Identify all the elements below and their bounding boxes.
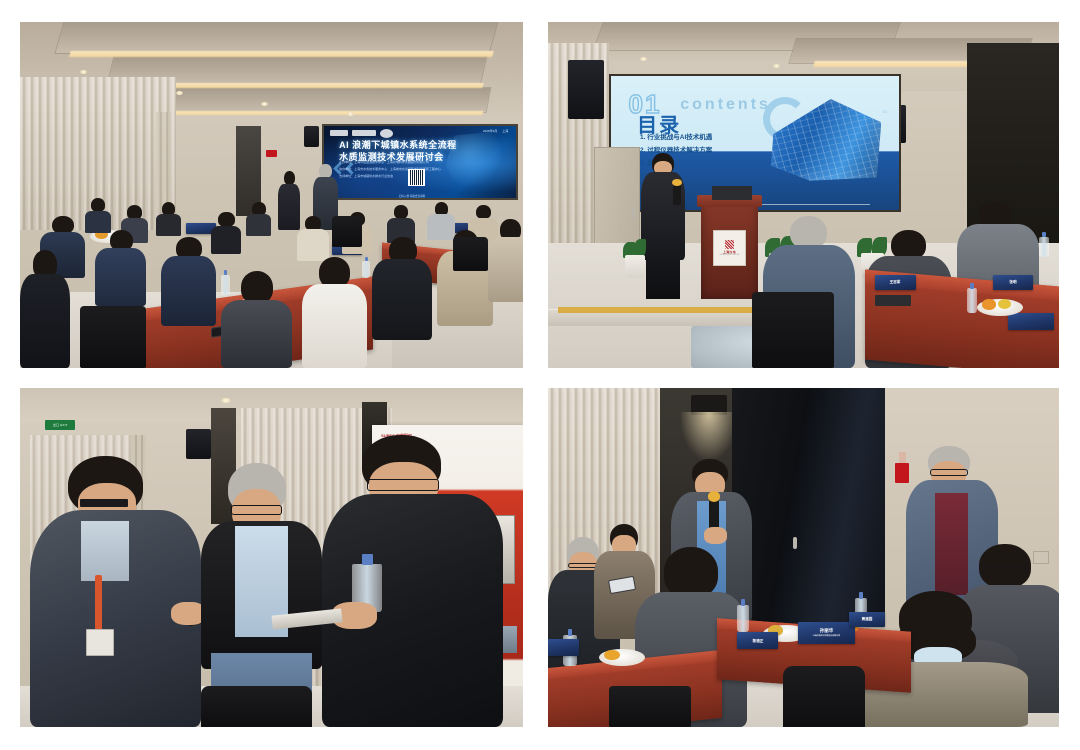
slide-item: 1. 行业挑战与AI技术机遇 <box>640 131 712 144</box>
door-handle[interactable] <box>793 537 797 549</box>
potted-plant <box>620 223 651 278</box>
attendee <box>297 216 330 261</box>
cove-light <box>165 111 483 115</box>
logo-mark <box>330 130 348 136</box>
photo-bottom-left[interactable]: 出口 EXIT SUPEC 仪电科仪 SUPEC 7010 全自动水质在线监测系… <box>20 388 523 727</box>
legs <box>646 255 679 299</box>
door-handle[interactable] <box>632 209 635 218</box>
attendee <box>488 219 523 302</box>
photo-bottom-right[interactable]: 陈德正 孙丽华 上海仪电科学仪器股份有限公司 黄建国 <box>548 388 1059 727</box>
photo-collage: 2025年3月 上海 AI 浪潮下城镇水系统全流程 水质监测技术发展研讨会 主办… <box>0 0 1080 750</box>
torso <box>156 214 181 236</box>
attendee <box>20 250 70 368</box>
nameplate-subtext: 上海仪电科学仪器股份有限公司 <box>813 635 841 637</box>
stage-edge-stripe <box>558 307 762 312</box>
attendee <box>302 257 367 368</box>
head <box>664 547 718 597</box>
eyeglasses-icon <box>80 499 128 507</box>
slide-page-number: 01 <box>883 109 887 114</box>
podium: 上海仪电 SHANGHAI INESA <box>701 195 757 299</box>
nameplate: 陈德正 <box>737 632 778 649</box>
nameplate <box>548 639 579 656</box>
banner-city-badge: 上海 <box>502 129 508 133</box>
nameplate-text: 孙丽华 <box>820 629 834 634</box>
torso <box>161 256 216 326</box>
head <box>241 271 273 304</box>
torso <box>20 274 70 368</box>
head <box>284 171 295 185</box>
laptop <box>875 295 911 305</box>
chair <box>80 306 145 368</box>
logo-mark <box>380 129 393 138</box>
ceiling-speaker <box>304 126 319 147</box>
exit-sign: 出口 EXIT <box>45 420 75 430</box>
eyeglasses-icon <box>930 469 969 476</box>
attendee <box>85 198 110 233</box>
chair <box>752 292 834 368</box>
wall-speaker <box>186 429 211 460</box>
lanyard <box>95 575 102 635</box>
nameplate-text: 张明 <box>1009 280 1016 285</box>
slide-section-label: contents <box>680 96 771 114</box>
hand <box>704 527 727 544</box>
banana-fruit <box>604 650 619 660</box>
photo-top-right[interactable]: 01 contents 目录 1. 行业挑战与AI技术机遇 2. 过程仪器技术解… <box>548 22 1059 368</box>
chair <box>332 216 362 247</box>
room-door[interactable] <box>732 388 885 625</box>
attendee-right <box>322 435 503 727</box>
plant-pot <box>625 255 645 278</box>
torso <box>372 259 432 340</box>
nameplate: 王志军 <box>875 275 916 291</box>
podium-emblem: 上海仪电 SHANGHAI INESA <box>713 230 747 265</box>
downlight-icon <box>640 57 647 61</box>
torso <box>246 214 271 236</box>
banner-subtitle-3: 支持单位：上海市城镇供水排水行业协会 <box>339 174 474 179</box>
nameplate <box>1008 313 1054 330</box>
attendee <box>95 230 145 306</box>
torso <box>221 300 291 368</box>
nameplate-text: 王志军 <box>890 280 901 285</box>
laptop <box>712 186 753 200</box>
water-bottle <box>1039 237 1049 258</box>
downlight-icon <box>773 64 780 68</box>
banner-subtitle-2: 协办单位：上海市水务技术服务中心 · 上海城市水资源开发利用国家工程中心 <box>339 167 474 172</box>
torso <box>302 284 367 368</box>
alarm-mount <box>899 452 906 462</box>
torso <box>297 229 330 260</box>
chair <box>201 686 312 727</box>
nameplate: 孙丽华 上海仪电科学仪器股份有限公司 <box>798 622 854 644</box>
handheld-microphone <box>673 185 681 206</box>
ceiling-panel <box>56 22 498 53</box>
attendee <box>372 237 432 341</box>
qr-code-icon <box>408 169 425 186</box>
eyeglasses-icon <box>982 566 1027 574</box>
led-banner-screen: 2025年3月 上海 AI 浪潮下城镇水系统全流程 水质监测技术发展研讨会 主办… <box>322 124 518 200</box>
banner-date-badge: 2025年3月 <box>483 129 497 133</box>
shirt-collar <box>81 521 129 581</box>
light-glow <box>681 412 737 459</box>
torso <box>95 248 145 306</box>
eyeglasses-icon <box>231 505 282 516</box>
exit-sign-text: 出口 EXIT <box>53 423 68 427</box>
chair <box>783 666 865 727</box>
logo-mark <box>352 130 376 136</box>
water-bottle <box>967 288 977 312</box>
handheld-microphone[interactable] <box>709 500 719 531</box>
banana-fruit <box>998 299 1011 309</box>
cove-light <box>70 51 494 57</box>
banner-title-line1: AI 浪潮下城镇水系统全流程 <box>339 140 470 151</box>
torso <box>488 237 523 302</box>
ceiling-panel <box>153 88 490 112</box>
downlight-icon <box>347 112 354 116</box>
downlight-icon <box>261 102 268 106</box>
emblem-sub: SHANGHAI INESA <box>719 254 739 256</box>
water-bottle <box>737 605 749 632</box>
emblem-mark-icon <box>725 240 734 249</box>
sponsor-logos <box>330 129 393 138</box>
attendee <box>246 202 271 237</box>
eyeglasses-icon <box>367 479 439 491</box>
banner-badges: 2025年3月 上海 <box>483 129 508 133</box>
head <box>218 212 234 227</box>
nameplate: 张明 <box>993 275 1034 291</box>
attendee-left <box>30 456 201 727</box>
attendee <box>221 271 291 368</box>
attendee <box>161 237 216 327</box>
nameplate: 黄建国 <box>849 612 885 627</box>
orange-fruit <box>982 299 995 309</box>
nameplate-text: 黄建国 <box>862 617 873 622</box>
banner-subtitle-1: 主办单位：上海环境监测技术中心 · 上海仪电科学仪器股份有限公司 <box>339 160 474 165</box>
nameplate-text: 陈德正 <box>752 638 763 643</box>
attendee <box>156 202 181 237</box>
chair <box>609 686 691 727</box>
qr-caption: 扫码入群 获取会议资料 <box>399 194 426 198</box>
wall-speaker <box>568 60 604 119</box>
badge <box>86 629 113 656</box>
photo-top-left[interactable]: 2025年3月 上海 AI 浪潮下城镇水系统全流程 水质监测技术发展研讨会 主办… <box>20 22 523 368</box>
chair <box>453 237 488 272</box>
fire-alarm-icon <box>266 150 276 157</box>
